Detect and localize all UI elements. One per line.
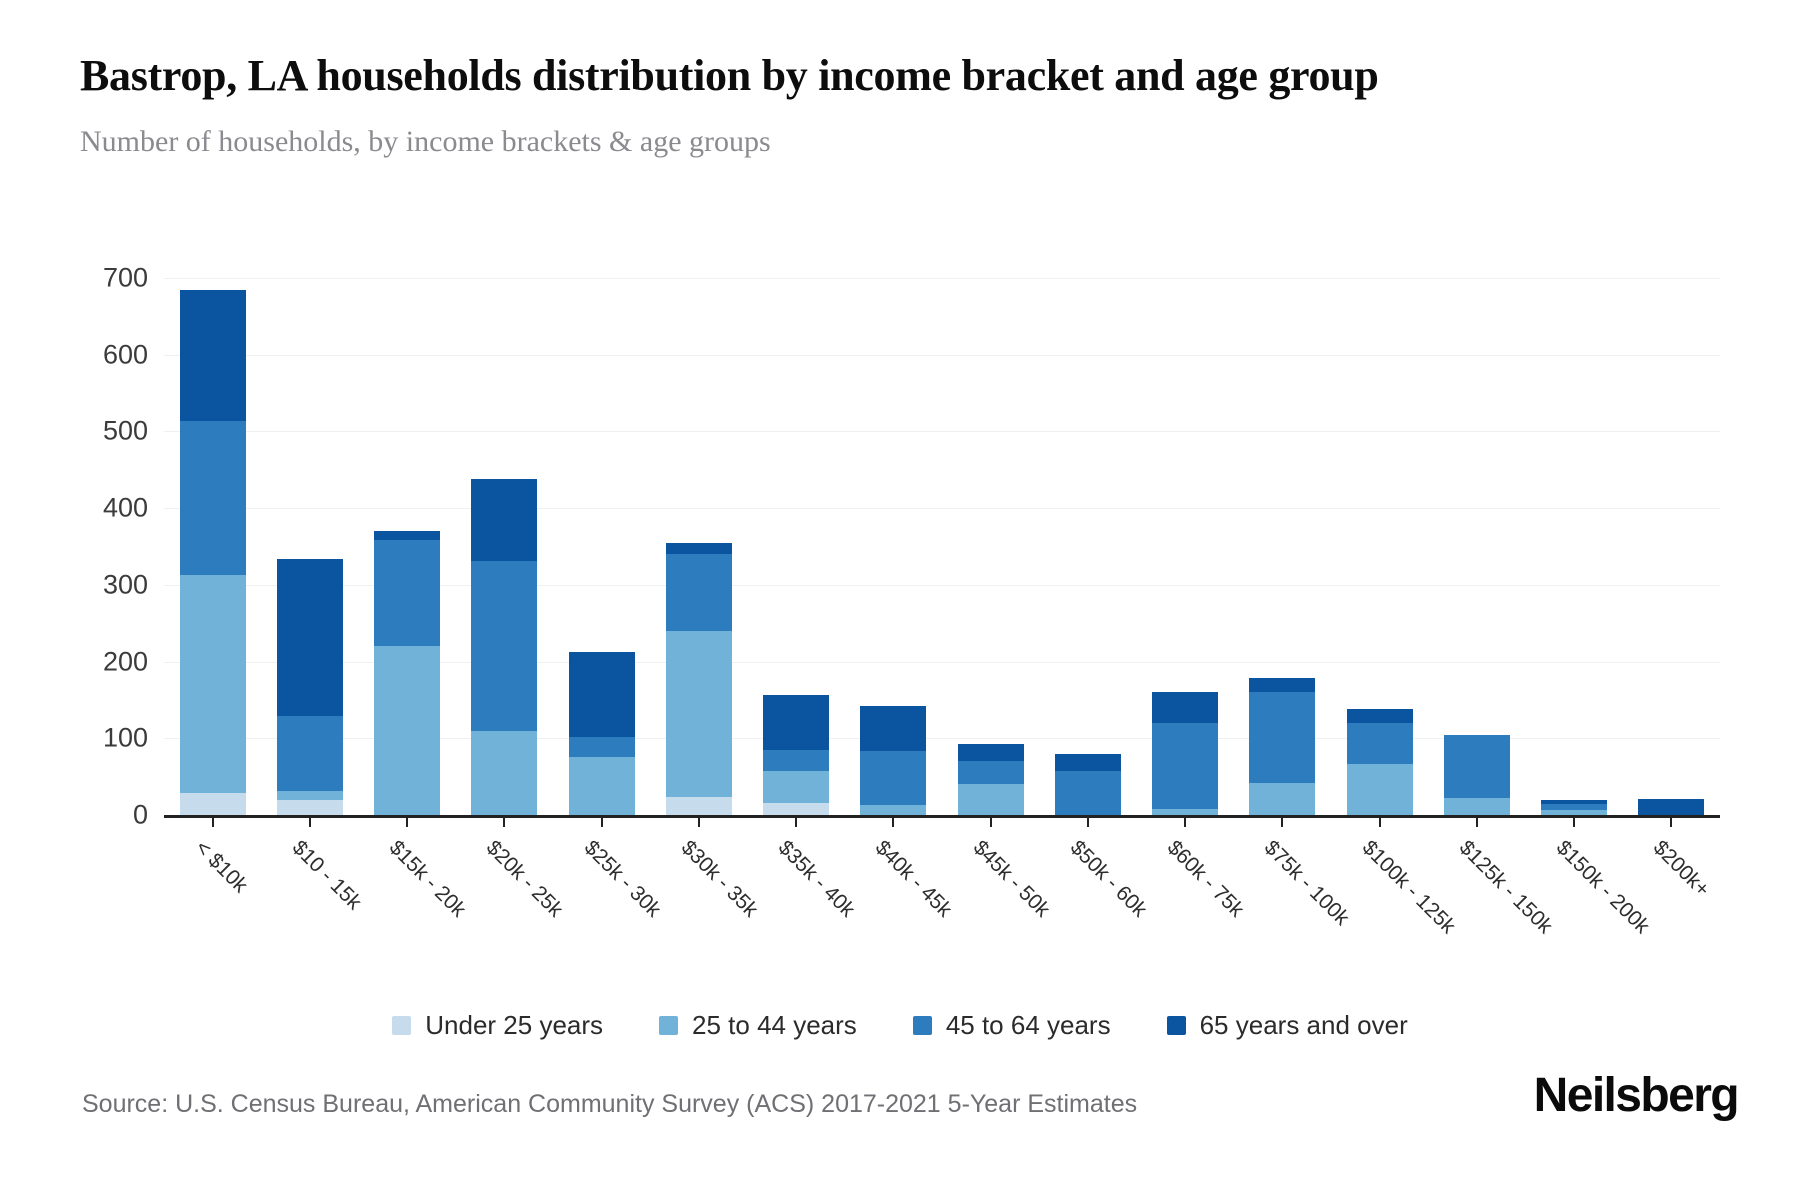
bar-group[interactable] — [1039, 278, 1136, 815]
bar-segment[interactable] — [763, 750, 829, 771]
bar-stack[interactable] — [860, 706, 926, 815]
legend-swatch-icon — [392, 1016, 411, 1035]
bar-segment[interactable] — [374, 646, 440, 815]
bar-segment[interactable] — [1347, 764, 1413, 815]
bar-segment[interactable] — [277, 800, 343, 815]
y-axis-tick-label: 700 — [103, 263, 148, 294]
bar-segment[interactable] — [958, 784, 1024, 815]
x-axis-tick-label: < $10k — [190, 836, 252, 898]
bar-stack[interactable] — [1055, 754, 1121, 815]
legend-item[interactable]: Under 25 years — [392, 1010, 603, 1041]
bar-segment[interactable] — [763, 695, 829, 750]
bar-group[interactable] — [553, 278, 650, 815]
x-axis-label-slot: $50k - 60k — [1039, 830, 1136, 940]
legend-label: Under 25 years — [425, 1010, 603, 1041]
bar-stack[interactable] — [1638, 799, 1704, 815]
y-axis-tick-label: 100 — [103, 723, 148, 754]
chart-page: Bastrop, LA households distribution by i… — [0, 0, 1800, 1200]
bar-stack[interactable] — [763, 695, 829, 815]
bar-segment[interactable] — [860, 805, 926, 815]
x-axis-label-slot: < $10k — [164, 830, 261, 940]
source-note: Source: U.S. Census Bureau, American Com… — [82, 1090, 1137, 1119]
bar-segment[interactable] — [1055, 771, 1121, 815]
y-axis-tick-label: 200 — [103, 646, 148, 677]
bar-stack[interactable] — [1152, 692, 1218, 815]
bar-stack[interactable] — [1347, 709, 1413, 815]
bar-segment[interactable] — [1249, 783, 1315, 815]
legend-label: 45 to 64 years — [946, 1010, 1111, 1041]
bar-stack[interactable] — [958, 744, 1024, 815]
legend-item[interactable]: 25 to 44 years — [659, 1010, 857, 1041]
bar-group[interactable] — [164, 278, 261, 815]
y-axis-tick-label: 400 — [103, 493, 148, 524]
brand-logo: Neilsberg — [1534, 1068, 1738, 1123]
legend-item[interactable]: 45 to 64 years — [913, 1010, 1111, 1041]
x-axis-label-slot: $150k - 200k — [1526, 830, 1623, 940]
bar-group[interactable] — [1428, 278, 1525, 815]
bar-group[interactable] — [1623, 278, 1720, 815]
grid-area — [164, 278, 1720, 818]
legend-swatch-icon — [659, 1016, 678, 1035]
x-axis-line — [164, 815, 1720, 818]
y-axis-tick-label: 600 — [103, 339, 148, 370]
y-axis: 0100200300400500600700 — [80, 278, 148, 818]
bar-group[interactable] — [748, 278, 845, 815]
bar-segment[interactable] — [1347, 709, 1413, 723]
bar-group[interactable] — [1526, 278, 1623, 815]
bar-segment[interactable] — [666, 554, 732, 631]
bar-group[interactable] — [1331, 278, 1428, 815]
bar-segment[interactable] — [277, 716, 343, 791]
chart-plot-area: 0100200300400500600700 < $10k$10 - 15k$1… — [80, 278, 1720, 898]
page-title: Bastrop, LA households distribution by i… — [80, 48, 1550, 104]
x-axis-label-slot: $60k - 75k — [1137, 830, 1234, 940]
x-axis-label-slot: $30k - 35k — [650, 830, 747, 940]
bar-segment[interactable] — [569, 652, 635, 736]
bar-segment[interactable] — [958, 761, 1024, 784]
bar-segment[interactable] — [569, 757, 635, 815]
legend-swatch-icon — [913, 1016, 932, 1035]
bar-segment[interactable] — [471, 479, 537, 561]
bar-stack[interactable] — [1249, 678, 1315, 815]
bar-segment[interactable] — [1055, 754, 1121, 772]
bar-stack[interactable] — [569, 652, 635, 815]
bar-segment[interactable] — [763, 771, 829, 802]
bar-segment[interactable] — [471, 561, 537, 731]
chart-header: Bastrop, LA households distribution by i… — [80, 48, 1640, 161]
x-axis-label-slot: $15k - 20k — [359, 830, 456, 940]
bar-group[interactable] — [359, 278, 456, 815]
bar-segment[interactable] — [1152, 692, 1218, 723]
bar-segment[interactable] — [1249, 692, 1315, 783]
y-axis-tick-label: 300 — [103, 569, 148, 600]
bar-stack[interactable] — [374, 531, 440, 815]
x-axis-label-slot: $35k - 40k — [748, 830, 845, 940]
bar-segment[interactable] — [180, 575, 246, 793]
bar-group[interactable] — [845, 278, 942, 815]
bar-segment[interactable] — [860, 751, 926, 805]
bar-segment[interactable] — [471, 731, 537, 815]
bar-segment[interactable] — [374, 540, 440, 646]
x-axis-label-slot: $200k+ — [1623, 830, 1720, 940]
x-axis-label-slot: $45k - 50k — [942, 830, 1039, 940]
bar-segment[interactable] — [666, 631, 732, 797]
legend-label: 25 to 44 years — [692, 1010, 857, 1041]
x-axis-labels: < $10k$10 - 15k$15k - 20k$20k - 25k$25k … — [164, 830, 1720, 940]
bar-segment[interactable] — [1444, 735, 1510, 798]
bar-group[interactable] — [261, 278, 358, 815]
bar-stack[interactable] — [1444, 735, 1510, 815]
y-axis-tick-label: 0 — [133, 800, 148, 831]
bar-segment[interactable] — [180, 793, 246, 815]
bar-segment[interactable] — [1638, 799, 1704, 815]
bar-group[interactable] — [942, 278, 1039, 815]
bar-group[interactable] — [456, 278, 553, 815]
legend-swatch-icon — [1167, 1016, 1186, 1035]
x-axis-label-slot: $75k - 100k — [1234, 830, 1331, 940]
bar-stack[interactable] — [277, 559, 343, 815]
legend-label: 65 years and over — [1200, 1010, 1408, 1041]
x-axis-tick-label: $10 - 15k — [287, 836, 366, 915]
bar-segment[interactable] — [180, 290, 246, 421]
bar-group[interactable] — [1137, 278, 1234, 815]
x-axis-label-slot: $40k - 45k — [845, 830, 942, 940]
bar-segment[interactable] — [666, 543, 732, 554]
bar-segment[interactable] — [958, 744, 1024, 761]
bars-row — [164, 278, 1720, 815]
bar-group[interactable] — [1234, 278, 1331, 815]
bar-segment[interactable] — [374, 531, 440, 540]
page-subtitle: Number of households, by income brackets… — [80, 122, 1640, 161]
bar-segment[interactable] — [1249, 678, 1315, 692]
bar-segment[interactable] — [277, 559, 343, 716]
x-axis-label-slot: $25k - 30k — [553, 830, 650, 940]
bar-stack[interactable] — [666, 543, 732, 815]
bar-segment[interactable] — [277, 791, 343, 800]
bar-segment[interactable] — [1347, 723, 1413, 764]
bar-segment[interactable] — [1444, 798, 1510, 815]
bar-segment[interactable] — [1152, 723, 1218, 809]
bar-segment[interactable] — [180, 421, 246, 575]
bar-segment[interactable] — [763, 803, 829, 815]
x-axis-label-slot: $10 - 15k — [261, 830, 358, 940]
bar-segment[interactable] — [569, 737, 635, 757]
chart-legend: Under 25 years25 to 44 years45 to 64 yea… — [0, 1010, 1800, 1041]
x-axis-label-slot: $20k - 25k — [456, 830, 553, 940]
legend-item[interactable]: 65 years and over — [1167, 1010, 1408, 1041]
bar-segment[interactable] — [860, 706, 926, 750]
x-axis-label-slot: $100k - 125k — [1331, 830, 1428, 940]
bar-group[interactable] — [650, 278, 747, 815]
y-axis-tick-label: 500 — [103, 416, 148, 447]
x-axis-label-slot: $125k - 150k — [1428, 830, 1525, 940]
bar-stack[interactable] — [1541, 800, 1607, 815]
bar-stack[interactable] — [471, 479, 537, 815]
bar-segment[interactable] — [666, 797, 732, 815]
bar-stack[interactable] — [180, 290, 246, 815]
x-axis-tick-label: $200k+ — [1648, 836, 1714, 902]
